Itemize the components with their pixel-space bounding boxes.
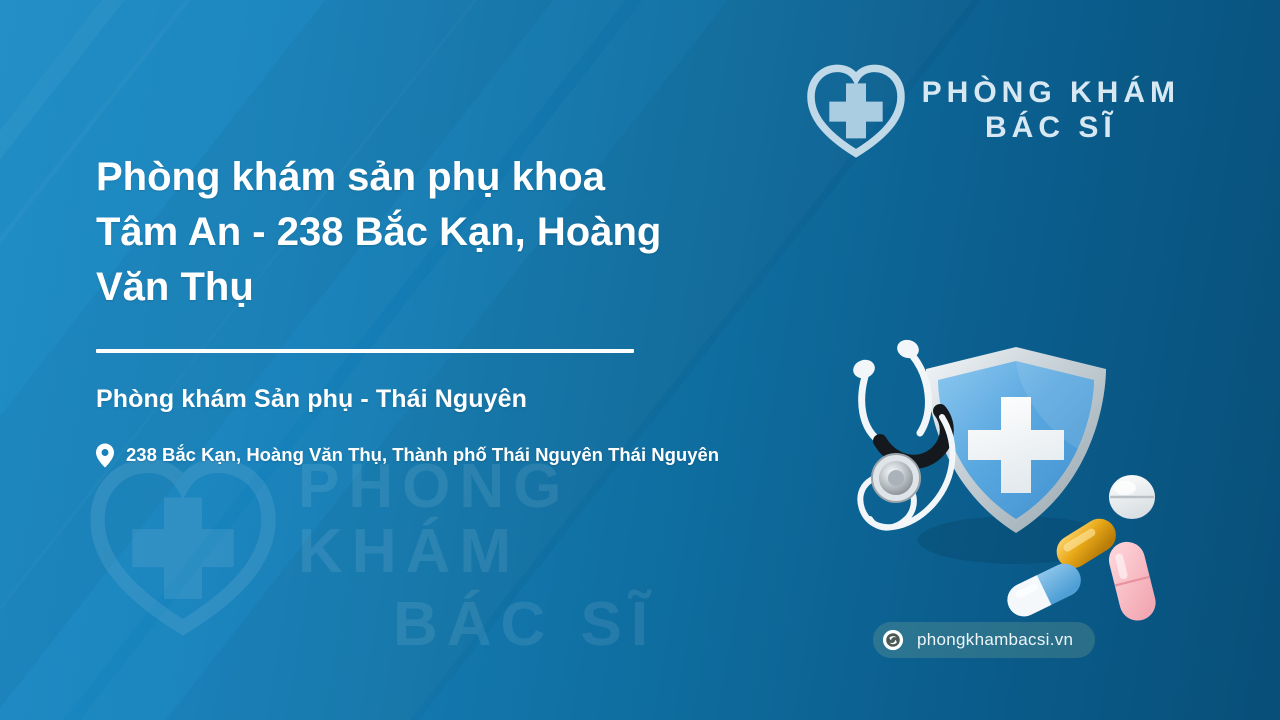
white-round-tablet — [1109, 475, 1155, 519]
brand-logo-line-1: PHÒNG KHÁM — [922, 75, 1180, 110]
brand-logo-line-2: BÁC SĨ — [922, 110, 1180, 145]
pink-capsule — [1105, 538, 1159, 624]
website-url: phongkhambacsi.vn — [917, 630, 1073, 650]
heart-medical-cross-icon — [88, 450, 278, 640]
website-badge[interactable]: phongkhambacsi.vn — [873, 622, 1095, 658]
globe-icon — [882, 629, 904, 651]
clinic-banner: PHÒNG KHÁM BÁC SĨ PHÒNG KHÁM BÁC SĨ Phòn… — [0, 0, 1280, 720]
clinic-address: 238 Bắc Kạn, Hoàng Văn Thụ, Thành phố Th… — [126, 441, 719, 470]
address-row: 238 Bắc Kạn, Hoàng Văn Thụ, Thành phố Th… — [96, 441, 836, 470]
title-divider — [96, 349, 634, 353]
brand-logo-text: PHÒNG KHÁM BÁC SĨ — [922, 75, 1180, 146]
blue-white-capsule — [1002, 558, 1087, 622]
clinic-subtitle: Phòng khám Sản phụ - Thái Nguyên — [96, 385, 836, 414]
location-pin-icon — [96, 443, 114, 468]
brand-watermark: PHÒNG KHÁM BÁC SĨ — [88, 440, 728, 670]
watermark-line-2: BÁC SĨ — [393, 592, 728, 657]
watermark-line-1: PHÒNG KHÁM — [298, 454, 728, 584]
content-block: Phòng khám sản phụ khoa Tâm An - 238 Bắc… — [96, 150, 836, 469]
stethoscope-icon — [851, 337, 953, 527]
watermark-text: PHÒNG KHÁM BÁC SĨ — [298, 454, 728, 657]
brand-logo: PHÒNG KHÁM BÁC SĨ — [806, 58, 1180, 162]
heart-medical-cross-icon — [806, 58, 906, 162]
clinic-title: Phòng khám sản phụ khoa Tâm An - 238 Bắc… — [96, 150, 696, 316]
medical-illustration — [838, 325, 1178, 625]
